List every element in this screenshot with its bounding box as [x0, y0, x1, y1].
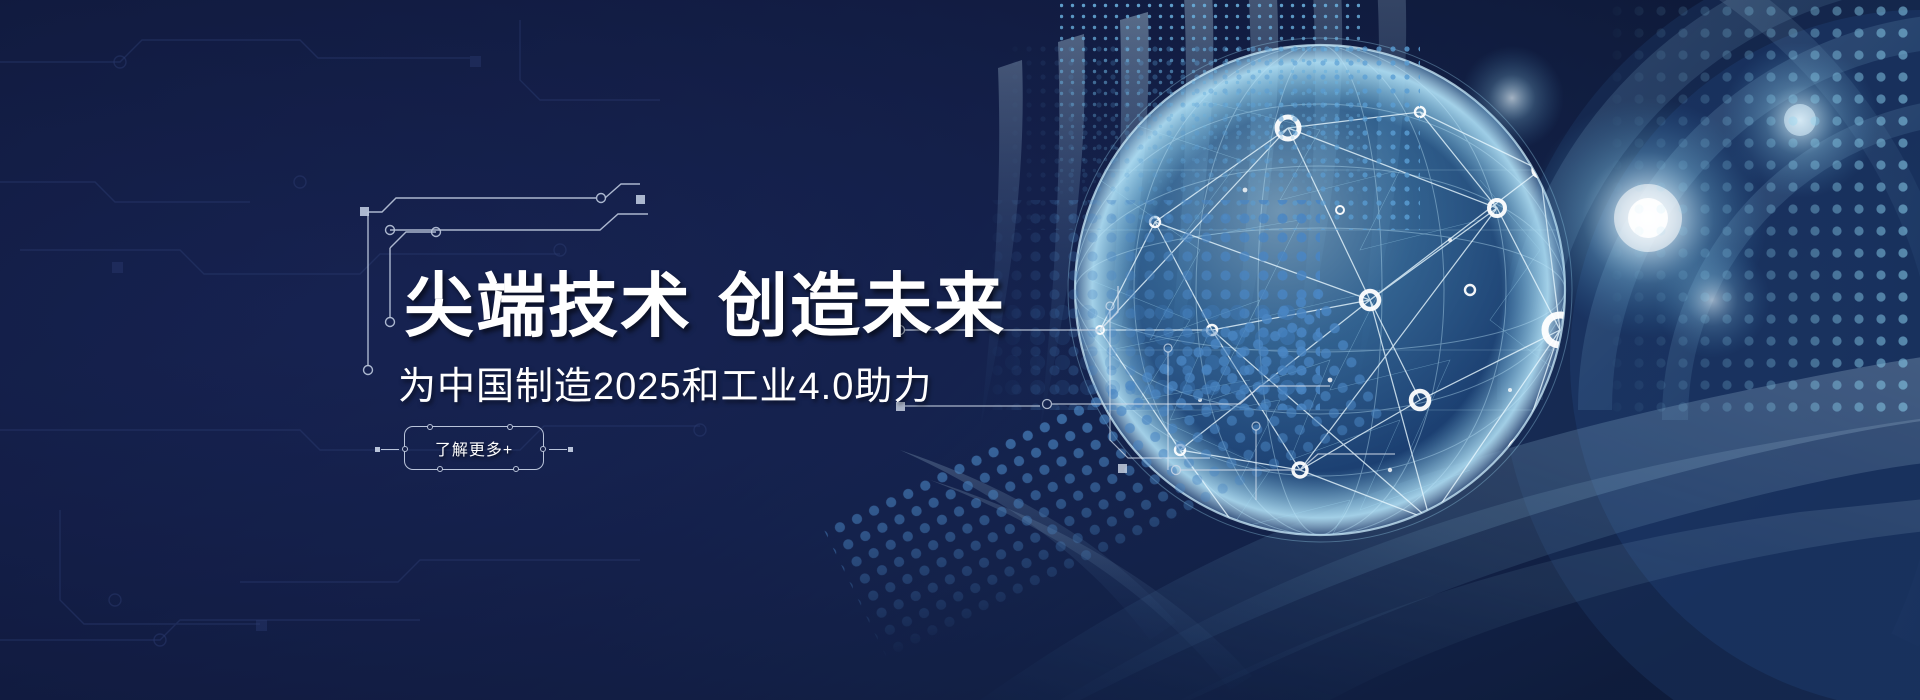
page-subtitle: 为中国制造2025和工业4.0助力	[398, 368, 932, 406]
square-terminal-icon	[375, 447, 380, 452]
circuit-lead-right	[549, 449, 567, 450]
hero-banner: 尖端技术创造未来 为中国制造2025和工业4.0助力 了解更多+	[0, 0, 1920, 700]
circuit-node-icon	[402, 446, 408, 452]
circuit-node-icon	[427, 424, 433, 430]
learn-more-button[interactable]: 了解更多+	[404, 426, 544, 470]
circuit-node-icon	[507, 424, 513, 430]
square-terminal-icon	[568, 447, 573, 452]
title-part-1: 尖端技术	[404, 267, 692, 345]
circuit-node-icon	[540, 446, 546, 452]
circuit-lead-left	[381, 449, 399, 450]
circuit-node-icon	[437, 466, 443, 472]
title-part-2: 创造未来	[718, 267, 1006, 345]
foreground-circuit-decor	[0, 0, 1920, 700]
page-title: 尖端技术创造未来	[404, 271, 1006, 341]
learn-more-label: 了解更多+	[435, 436, 513, 460]
circuit-node-icon	[513, 466, 519, 472]
